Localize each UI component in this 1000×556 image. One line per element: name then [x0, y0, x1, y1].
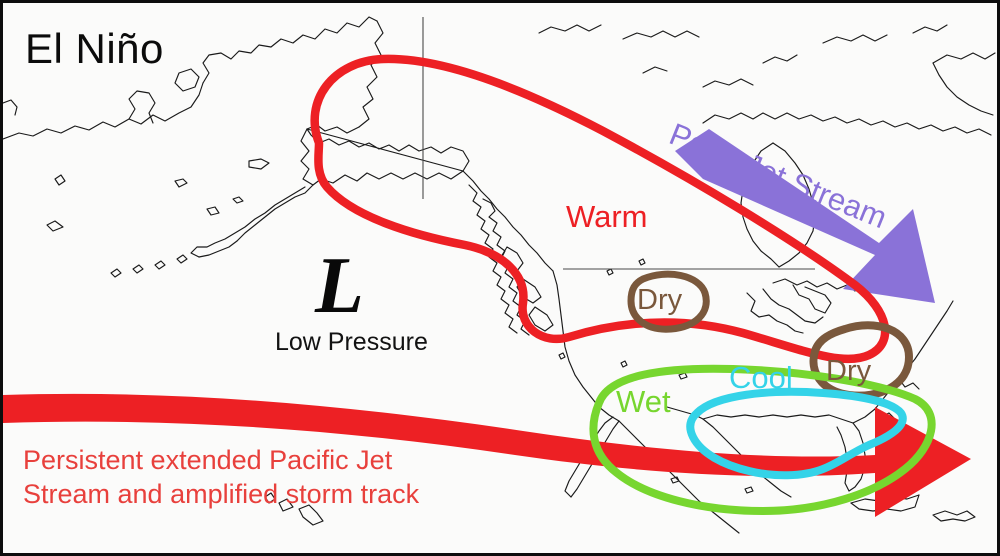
low-pressure-symbol: L — [315, 246, 364, 326]
low-pressure-label: Low Pressure — [275, 328, 428, 357]
pacific-jet-caption: Persistent extended Pacific Jet Stream a… — [23, 443, 463, 511]
el-nino-map-figure: El Niño L Low Pressure Warm Polar Jet St… — [0, 0, 1000, 556]
dry-label-north: Dry — [637, 284, 682, 317]
wet-label: Wet — [616, 384, 671, 420]
cool-label: Cool — [729, 360, 793, 396]
dry-label-east: Dry — [826, 355, 871, 388]
warm-label: Warm — [566, 199, 648, 235]
page-title: El Niño — [25, 25, 164, 73]
